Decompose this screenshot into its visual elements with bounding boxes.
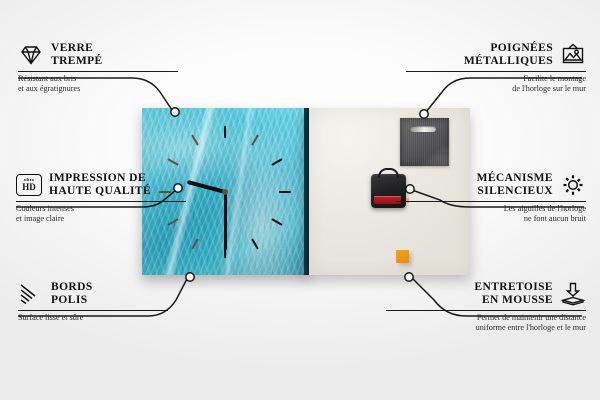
diamond-icon xyxy=(18,44,44,66)
callout-header: ultra HD IMPRESSION DE HAUTE QUALITÉ xyxy=(16,172,186,198)
callout-title-line1: MÉCANISME xyxy=(477,172,553,185)
arrow-down-onto-pad-icon xyxy=(560,282,586,306)
infographic-canvas: VERRE TREMPÉ Résistant aux bris et aux é… xyxy=(0,0,600,400)
callout-title-line2: MÉTALLIQUES xyxy=(464,55,553,68)
callout-rule xyxy=(406,71,586,72)
callout-desc-line2: et aux égratignures xyxy=(18,84,178,94)
callout-title-line1: BORDS xyxy=(51,281,93,294)
callout-desc-line1: Couleurs intenses xyxy=(16,204,186,214)
callout-bords-polis: BORDS POLIS Surface lisse et sûre xyxy=(18,281,168,323)
callout-header: MÉCANISME SILENCIEUX xyxy=(396,172,586,198)
callout-desc-line1: Les aiguilles de l'horloge xyxy=(396,204,586,214)
callout-verre-trempe: VERRE TREMPÉ Résistant aux bris et aux é… xyxy=(18,42,178,94)
callout-desc-line1: Permet de maintenir une distance xyxy=(386,313,586,323)
callout-title-line2: EN MOUSSE xyxy=(474,294,553,307)
ultra-hd-large-text: HD xyxy=(22,183,36,192)
callout-desc-line2: de l'horloge sur le mur xyxy=(406,84,586,94)
callout-mecanisme-silencieux: MÉCANISME SILENCIEUX Les aiguilles de l'… xyxy=(396,172,586,224)
callout-desc-line1: Surface lisse et sûre xyxy=(18,313,168,323)
callout-desc-line1: Facilite le montage xyxy=(406,74,586,84)
callout-rule xyxy=(18,71,178,72)
callout-rule xyxy=(16,201,186,202)
callout-header: ENTRETOISE EN MOUSSE xyxy=(386,281,586,307)
callout-title-line1: IMPRESSION DE xyxy=(49,172,151,185)
callout-header: VERRE TREMPÉ xyxy=(18,42,178,68)
callout-rule xyxy=(396,201,586,202)
callout-title-line2: HAUTE QUALITÉ xyxy=(49,185,151,198)
callout-title-line2: TREMPÉ xyxy=(51,55,103,68)
callout-desc-line2: et image claire xyxy=(16,214,186,224)
callout-title-line1: VERRE xyxy=(51,42,103,55)
callout-title-line2: POLIS xyxy=(51,294,93,307)
callout-title-line1: POIGNÉES xyxy=(464,42,553,55)
callout-desc-line2: uniforme entre l'horloge et le mur xyxy=(386,323,586,333)
callout-header: POIGNÉES MÉTALLIQUES xyxy=(406,42,586,68)
callout-impression-haute-qualite: ultra HD IMPRESSION DE HAUTE QUALITÉ Cou… xyxy=(16,172,186,224)
ultra-hd-icon: ultra HD xyxy=(16,174,42,196)
callout-desc-line1: Résistant aux bris xyxy=(18,74,178,84)
callout-poignees-metalliques: POIGNÉES MÉTALLIQUES Facilite le montage… xyxy=(406,42,586,94)
gear-icon xyxy=(560,173,586,197)
callout-title-line2: SILENCIEUX xyxy=(477,185,553,198)
callout-header: BORDS POLIS xyxy=(18,281,168,307)
callout-entretoise-en-mousse: ENTRETOISE EN MOUSSE Permet de maintenir… xyxy=(386,281,586,333)
callout-rule xyxy=(18,310,168,311)
polished-edge-lines-icon xyxy=(18,283,44,305)
callout-desc-line2: ne font aucun bruit xyxy=(396,214,586,224)
hanging-picture-frame-icon xyxy=(560,43,586,67)
callout-rule xyxy=(386,310,586,311)
callout-title-line1: ENTRETOISE xyxy=(474,281,553,294)
